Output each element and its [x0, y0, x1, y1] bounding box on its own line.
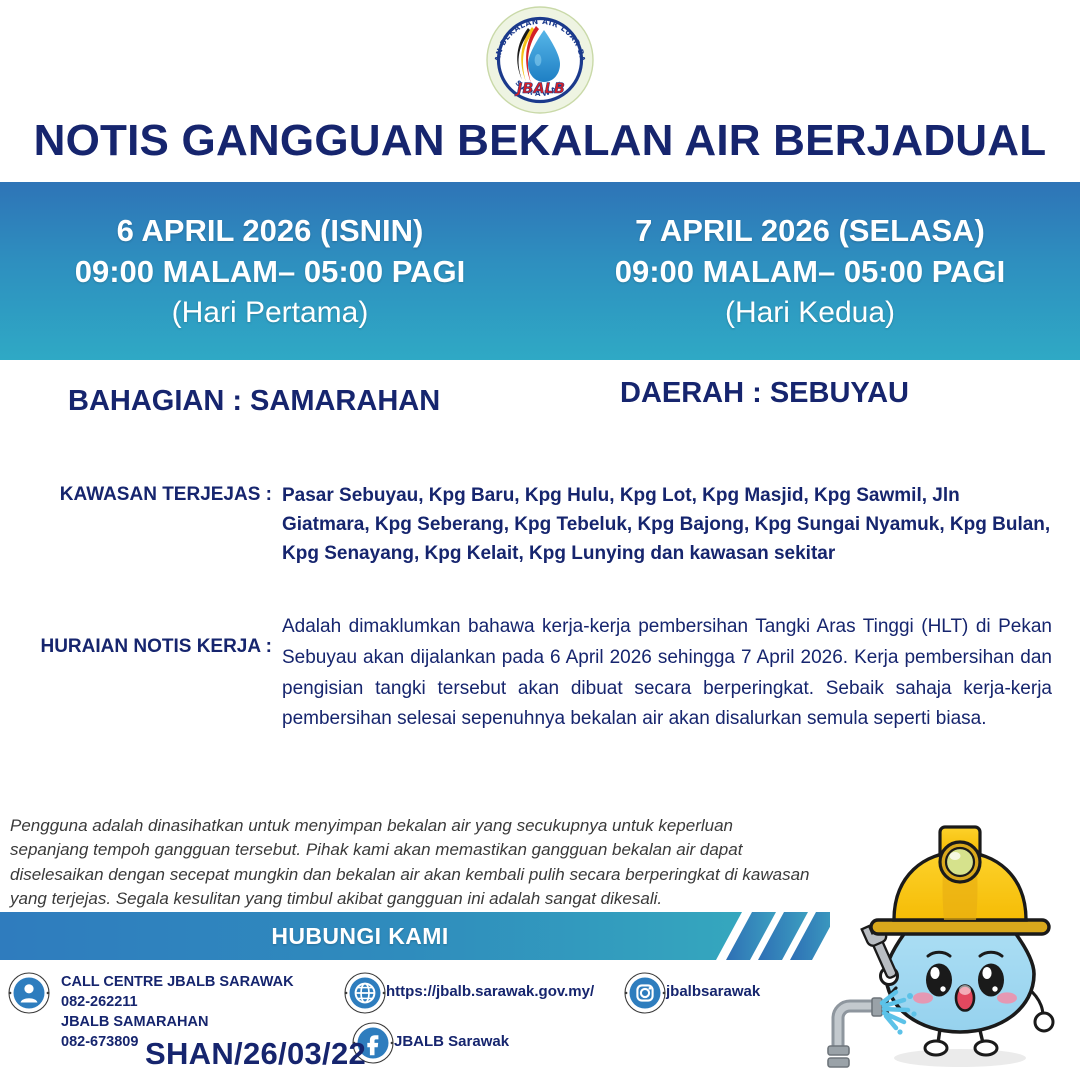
- contact-facebook[interactable]: JBALB Sarawak: [352, 1022, 509, 1064]
- advisory-text: Pengguna adalah dinasihatkan untuk menyi…: [10, 814, 810, 912]
- division-label: BAHAGIAN : SAMARAHAN: [68, 385, 440, 418]
- date-day-two-time: 09:00 MALAM– 05:00 PAGI: [615, 252, 1006, 293]
- instagram-icon: [624, 972, 666, 1014]
- page-title: NOTIS GANGGUAN BEKALAN AIR BERJADUAL: [0, 118, 1080, 164]
- work-description-label: HURAIAN NOTIS KERJA :: [0, 612, 272, 735]
- date-day-one-time: 09:00 MALAM– 05:00 PAGI: [75, 252, 466, 293]
- region-row: BAHAGIAN : SAMARAHAN DAERAH : SEBUYAU: [0, 385, 1080, 429]
- website-url[interactable]: https://jbalb.sarawak.gov.my/: [386, 972, 594, 1000]
- date-day-two-label: (Hari Kedua): [725, 293, 895, 333]
- logo-container: JABATAN BEKALAN AIR LUAR BANDAR SARAWAK …: [0, 4, 1080, 116]
- date-day-two-date: 7 APRIL 2026 (SELASA): [635, 211, 985, 252]
- water-droplet-mascot: [820, 800, 1078, 1080]
- work-description-value: Adalah dimaklumkan bahawa kerja-kerja pe…: [282, 612, 1052, 735]
- call-centre-line-2: 082-262211: [61, 992, 294, 1012]
- affected-areas-value: Pasar Sebuyau, Kpg Baru, Kpg Hulu, Kpg L…: [282, 482, 1052, 569]
- person-icon: [8, 972, 50, 1014]
- date-day-one-date: 6 APRIL 2026 (ISNIN): [117, 211, 424, 252]
- instagram-handle[interactable]: jbalbsarawak: [666, 972, 760, 1000]
- facebook-handle[interactable]: JBALB Sarawak: [394, 1022, 509, 1050]
- district-label: DAERAH : SEBUYAU: [620, 377, 909, 410]
- jbalb-seal-logo: JABATAN BEKALAN AIR LUAR BANDAR SARAWAK …: [484, 4, 596, 116]
- date-banner: 6 APRIL 2026 (ISNIN) 09:00 MALAM– 05:00 …: [0, 182, 1080, 360]
- date-column-day-one: 6 APRIL 2026 (ISNIN) 09:00 MALAM– 05:00 …: [0, 182, 540, 360]
- contact-instagram[interactable]: jbalbsarawak: [624, 972, 760, 1014]
- contact-website[interactable]: https://jbalb.sarawak.gov.my/: [344, 972, 594, 1014]
- globe-icon: [344, 972, 386, 1014]
- logo-acronym: JBALB: [514, 81, 565, 97]
- affected-areas-row: KAWASAN TERJEJAS : Pasar Sebuyau, Kpg Ba…: [0, 482, 1080, 569]
- date-day-one-label: (Hari Pertama): [172, 293, 369, 333]
- date-column-day-two: 7 APRIL 2026 (SELASA) 09:00 MALAM– 05:00…: [540, 182, 1080, 360]
- affected-areas-label: KAWASAN TERJEJAS :: [0, 482, 272, 569]
- reference-code: SHAN/26/03/22: [145, 1036, 366, 1072]
- call-centre-line-1: CALL CENTRE JBALB SARAWAK: [61, 972, 294, 992]
- contact-banner: HUBUNGI KAMI: [0, 912, 830, 960]
- work-description-row: HURAIAN NOTIS KERJA : Adalah dimaklumkan…: [0, 612, 1080, 735]
- call-centre-line-3: JBALB SAMARAHAN: [61, 1012, 294, 1032]
